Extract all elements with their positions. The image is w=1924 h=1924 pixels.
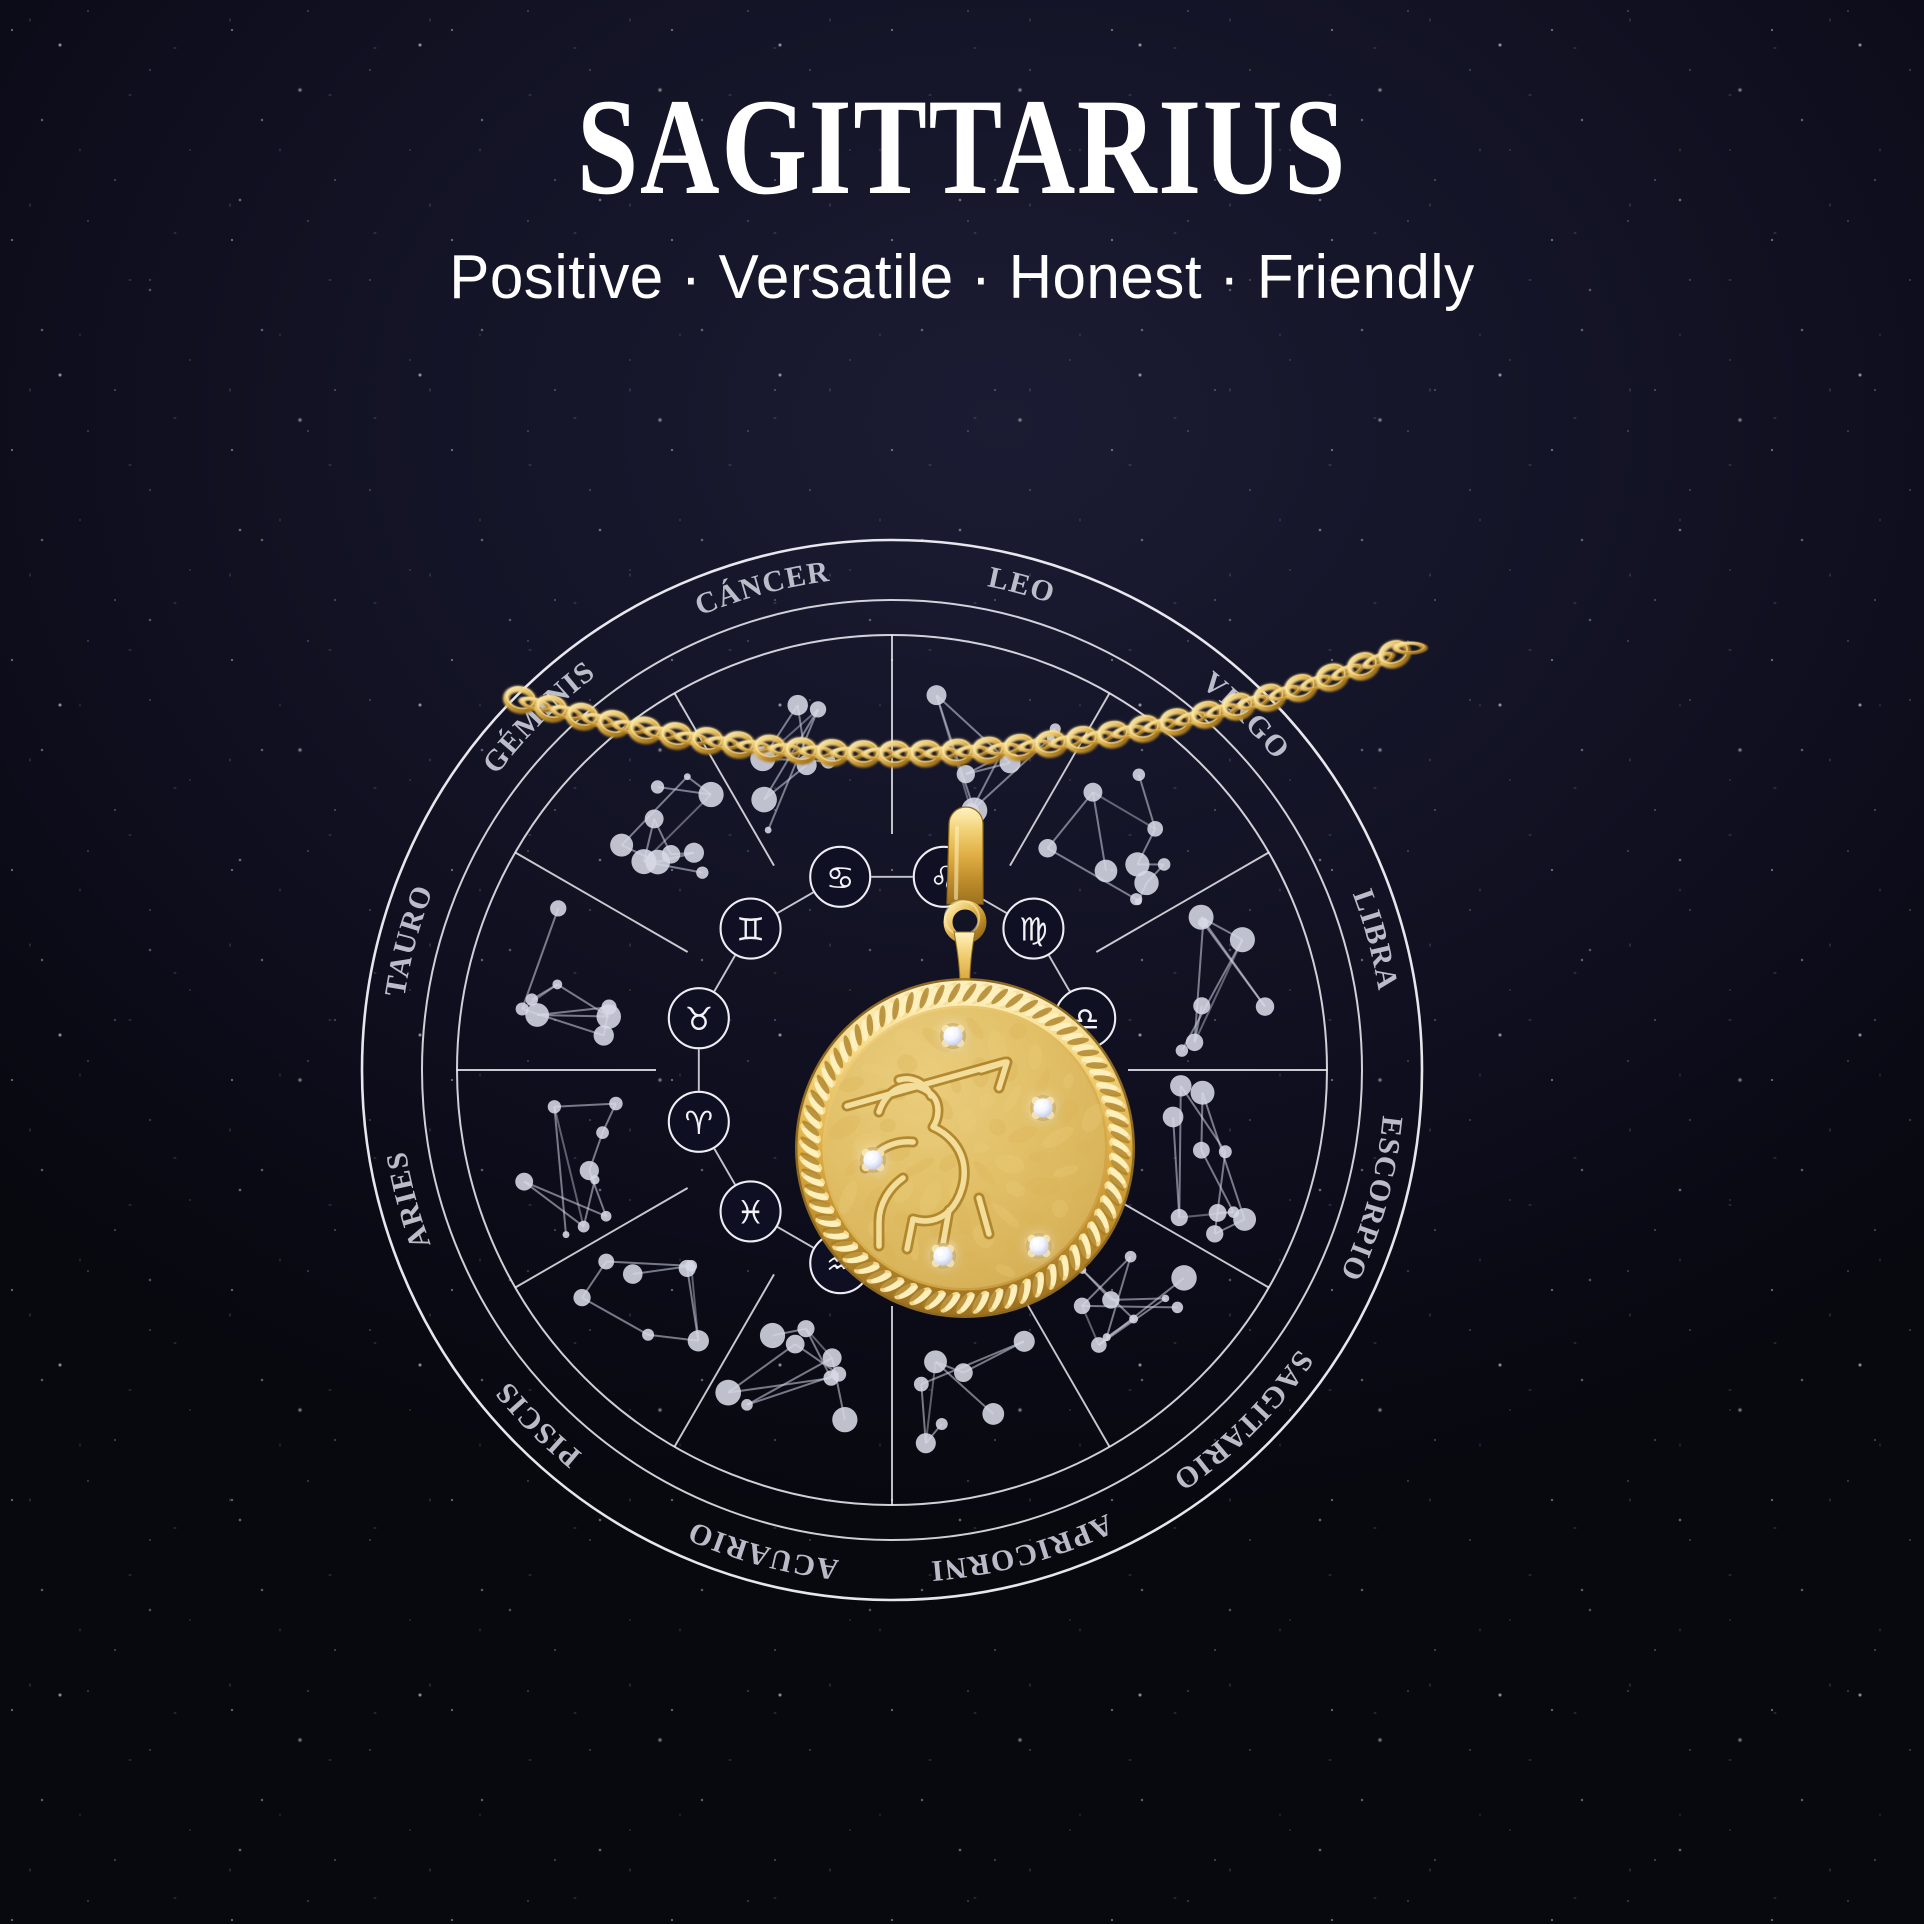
constellation-star: [760, 1323, 785, 1348]
constellation-link: [926, 1362, 936, 1443]
constellation-star: [1001, 744, 1008, 751]
constellation-star: [832, 1407, 857, 1432]
constellation-star: [651, 780, 664, 793]
constellation-link: [1099, 1278, 1184, 1345]
sign-glyph-leo[interactable]: ♌: [914, 847, 974, 907]
constellation-star: [696, 866, 708, 878]
constellation-link: [584, 1180, 595, 1227]
constellation-star: [1171, 1265, 1196, 1290]
sign-label-cáncer: CÁNCER: [690, 555, 832, 622]
constellation-star: [1171, 1209, 1188, 1226]
sign-label-libra: LIBRA: [1346, 885, 1405, 993]
wheel-spoke: [1010, 693, 1110, 865]
constellation-star: [1102, 1291, 1119, 1308]
constellation-star: [1176, 1044, 1188, 1056]
constellation-star: [1186, 1034, 1203, 1051]
constellation-star: [525, 1003, 549, 1027]
gemini-glyph: ♊: [736, 911, 765, 949]
constellation-star: [797, 1320, 814, 1337]
wheel-spoke: [1010, 1274, 1110, 1446]
constellation-link: [1182, 940, 1243, 1051]
constellation-star: [1158, 858, 1171, 871]
constellation-star: [590, 1175, 599, 1184]
constellation-star: [999, 752, 1020, 773]
constellation-star: [821, 754, 836, 769]
glyph-ring-link: [1049, 955, 1070, 991]
constellation-star: [609, 1097, 623, 1111]
constellation-star: [1193, 997, 1210, 1014]
constellation-star: [797, 755, 817, 775]
constellation-star: [1219, 1145, 1232, 1158]
constellation-star: [924, 1350, 947, 1373]
constellation-star: [598, 1254, 614, 1270]
constellation-star: [741, 1399, 753, 1411]
constellation-star: [715, 1380, 741, 1406]
constellation-star: [645, 850, 670, 875]
glyph-ring-link: [1049, 1149, 1070, 1185]
page-title: SAGITTARIUS: [192, 78, 1731, 216]
constellation-link: [1179, 1086, 1181, 1218]
constellation-star: [578, 1221, 590, 1233]
constellation-link: [1173, 1117, 1179, 1218]
taurus-glyph: ♉: [684, 1000, 713, 1038]
sign-glyph-sagittarius[interactable]: ♐: [1003, 1181, 1063, 1241]
zodiac-wheel: CÁNCERLEOVIRGOLIBRAESCORPIOSAGITARIOCAPR…: [242, 420, 1542, 1720]
constellation-star: [1256, 997, 1274, 1015]
constellation-star: [552, 979, 562, 989]
sagittarius-glyph: ♐: [1019, 1193, 1048, 1231]
constellation-star: [1038, 839, 1056, 857]
constellation-star: [1230, 927, 1255, 952]
constellation-star: [1170, 1075, 1191, 1096]
heading-block: SAGITTARIUS Positive · Versatile · Hones…: [0, 0, 1924, 313]
constellation-star: [573, 1289, 590, 1306]
constellation-star: [750, 746, 775, 771]
constellation-star: [1074, 1298, 1091, 1315]
constellation-star: [1193, 1142, 1210, 1159]
constellation-link: [1048, 792, 1093, 848]
constellation-star: [515, 1173, 533, 1191]
wheel-sign-labels: CÁNCERLEOVIRGOLIBRAESCORPIOSAGITARIOCAPR…: [230, 401, 1409, 1588]
poster-canvas: SAGITTARIUS Positive · Versatile · Hones…: [0, 0, 1924, 1924]
sign-label-virgo: VIRGO: [1196, 665, 1297, 766]
constellation-star: [954, 1363, 973, 1382]
capricorn-glyph: ♑: [929, 1245, 958, 1283]
constellation-star: [698, 782, 723, 807]
constellation-star: [786, 1335, 805, 1354]
constellation-star: [550, 900, 566, 916]
page-subtitle: Positive · Versatile · Honest · Friendly: [29, 242, 1895, 313]
constellation-star: [957, 765, 975, 783]
constellation-star: [982, 1403, 1004, 1425]
sign-glyph-aries[interactable]: ♈: [669, 1092, 729, 1152]
glyph-ring-link: [777, 1227, 813, 1248]
constellation-star: [684, 843, 704, 863]
constellation-star: [642, 1329, 654, 1341]
glyph-ring-link: [714, 1149, 735, 1185]
sign-label-sagitario: SAGITARIO: [1167, 1345, 1320, 1498]
constellation-star: [751, 787, 777, 813]
constellation-star: [1163, 1107, 1184, 1128]
pisces-glyph: ♓: [736, 1193, 765, 1231]
constellation-star: [823, 1348, 842, 1367]
sign-label-escorpio: ESCORPIO: [1334, 1114, 1409, 1286]
constellation-star: [1125, 1251, 1137, 1263]
constellation-star: [1191, 1081, 1215, 1105]
glyph-ring-link: [777, 892, 813, 913]
sign-glyph-virgo[interactable]: ♍: [1003, 899, 1063, 959]
constellation-star: [1133, 769, 1145, 781]
sign-label-leo: LEO: [985, 561, 1060, 611]
sign-glyph-taurus[interactable]: ♉: [669, 988, 729, 1048]
wheel-spoke: [675, 1274, 775, 1446]
constellation-star: [610, 834, 633, 857]
constellation-star: [1209, 1204, 1227, 1222]
aries-glyph: ♈: [684, 1104, 713, 1142]
sign-glyph-capricorn[interactable]: ♑: [914, 1233, 974, 1293]
sign-glyph-cancer[interactable]: ♋: [810, 847, 870, 907]
constellation-star: [810, 701, 826, 717]
sign-glyph-aquarius[interactable]: ♒: [810, 1233, 870, 1293]
sign-label-acuario: ACUARIO: [682, 1515, 840, 1587]
constellation-star: [679, 1260, 696, 1277]
libra-glyph: ♎: [1071, 1000, 1100, 1038]
constellation-star: [936, 1418, 948, 1430]
cancer-glyph: ♋: [826, 859, 855, 897]
constellation-star: [1014, 1331, 1035, 1352]
constellation-star: [961, 797, 987, 823]
constellation-link: [554, 1104, 616, 1107]
constellation-star: [596, 1004, 621, 1029]
constellation-star: [916, 1433, 936, 1453]
constellation-star: [765, 827, 772, 834]
glyph-ring-link: [971, 892, 1007, 913]
leo-glyph: ♌: [929, 859, 958, 897]
constellation-star: [1050, 723, 1061, 734]
constellation-link: [1201, 1150, 1233, 1212]
wheel-sign-glyphs: ♋♌♍♎♏♐♑♒♓♈♉♊: [669, 847, 1115, 1293]
constellation-star: [1047, 734, 1055, 742]
constellation-star: [1198, 917, 1208, 927]
constellation-link: [1048, 848, 1137, 899]
sign-label-piscis: PISCIS: [488, 1375, 587, 1474]
glyph-ring-link: [971, 1227, 1007, 1248]
constellation-star: [1228, 1206, 1240, 1218]
constellation-star: [1206, 1225, 1223, 1242]
constellation-star: [684, 773, 691, 780]
constellation-link: [606, 1262, 691, 1266]
constellation-star: [1079, 1266, 1087, 1274]
constellation-star: [1091, 1337, 1107, 1353]
sign-glyph-pisces[interactable]: ♓: [721, 1181, 781, 1241]
sign-glyph-libra[interactable]: ♎: [1055, 988, 1115, 1048]
constellation-star: [1125, 852, 1149, 876]
constellation-star: [623, 1264, 643, 1284]
constellation-star: [601, 1211, 612, 1222]
constellation-star: [1095, 860, 1118, 883]
constellation-link: [554, 1107, 566, 1235]
constellation-star: [1083, 783, 1102, 802]
constellation-star: [548, 1100, 561, 1113]
aquarius-glyph: ♒: [826, 1245, 855, 1283]
constellation-star: [1162, 1295, 1170, 1303]
constellation-star: [914, 1377, 929, 1392]
constellation-star: [688, 1330, 709, 1351]
constellation-star: [927, 685, 947, 705]
constellation-link: [1082, 1306, 1177, 1308]
constellation-star: [1172, 1302, 1183, 1313]
constellation-star: [563, 1231, 570, 1238]
constellation-star: [1129, 1315, 1138, 1324]
constellation-link: [1093, 792, 1106, 871]
constellation-star: [645, 809, 664, 828]
glyph-ring-link: [714, 955, 735, 991]
constellation-star: [1147, 821, 1163, 837]
sign-glyph-gemini[interactable]: ♊: [721, 899, 781, 959]
scorpio-glyph: ♏: [1071, 1104, 1100, 1142]
wheel-spokes: [457, 635, 1327, 1505]
constellation-link: [937, 695, 972, 811]
constellation-star: [596, 1126, 609, 1139]
constellation-star: [526, 993, 538, 1005]
constellation-star: [787, 695, 808, 716]
constellation-link: [971, 738, 1050, 811]
constellation-star: [831, 1367, 846, 1382]
constellation-link: [582, 1298, 648, 1335]
constellation-star: [1135, 898, 1142, 905]
virgo-glyph: ♍: [1019, 911, 1048, 949]
sign-glyph-scorpio[interactable]: ♏: [1055, 1092, 1115, 1152]
